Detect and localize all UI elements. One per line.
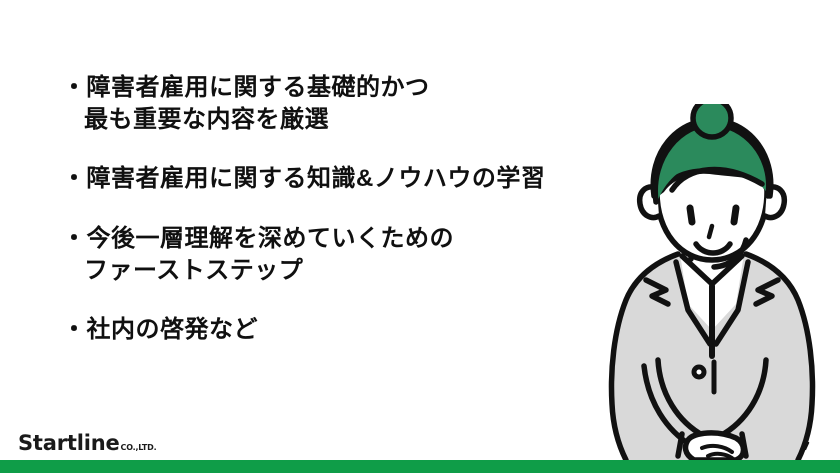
- slide-canvas: ・障害者雇用に関する基礎的かつ 最も重要な内容を厳選 ・障害者雇用に関する知識&…: [0, 0, 840, 473]
- logo-wordmark: Startline: [18, 431, 120, 455]
- nose: [709, 226, 712, 237]
- bullet-item: ・障害者雇用に関する基礎的かつ 最も重要な内容を厳選: [62, 72, 602, 135]
- bullet-list: ・障害者雇用に関する基礎的かつ 最も重要な内容を厳選 ・障害者雇用に関する知識&…: [62, 72, 602, 346]
- bullet-item: ・障害者雇用に関する知識&ノウハウの学習: [62, 163, 602, 195]
- bullet-item: ・社内の啓発など: [62, 314, 602, 346]
- bullet-line: 最も重要な内容を厳選: [62, 104, 602, 136]
- bullet-line: ・今後一層理解を深めていくための: [62, 223, 602, 255]
- bullet-line: ファーストステップ: [62, 255, 602, 287]
- bullet-line: ・障害者雇用に関する知識&ノウハウの学習: [62, 163, 602, 195]
- hair-bun: [693, 104, 731, 137]
- jacket-button: [694, 367, 704, 377]
- businesswoman-illustration: [596, 104, 828, 462]
- logo-suffix: CO.,LTD.: [121, 443, 157, 452]
- right-eye: [734, 208, 736, 222]
- company-logo: Startline CO.,LTD.: [18, 431, 156, 455]
- footer-accent-bar: [0, 460, 840, 473]
- bullet-item: ・今後一層理解を深めていくための ファーストステップ: [62, 223, 602, 286]
- left-eye: [690, 208, 692, 222]
- bullet-line: ・社内の啓発など: [62, 314, 602, 346]
- page-number: 7: [802, 440, 810, 453]
- bullet-line: ・障害者雇用に関する基礎的かつ: [62, 72, 602, 104]
- businesswoman-illustration-svg: [596, 104, 828, 462]
